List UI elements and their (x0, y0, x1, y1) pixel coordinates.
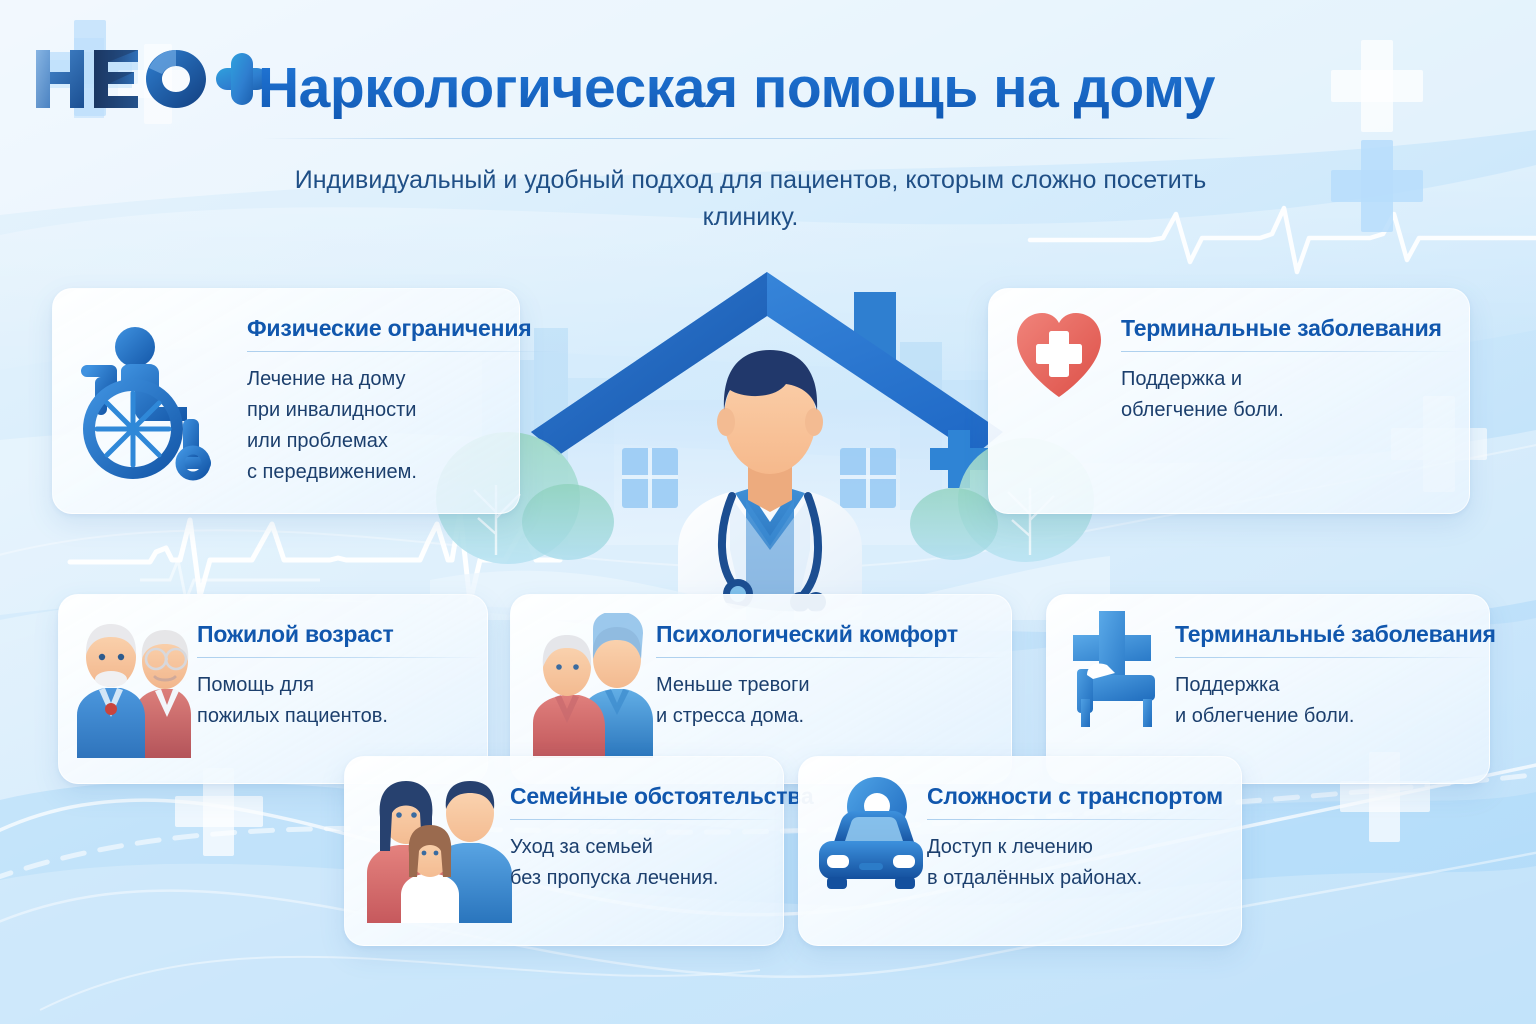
card-body: Сложности с транспортом Доступ к лечению… (927, 783, 1237, 894)
wheelchair-head (115, 327, 155, 367)
two-people-icon (533, 613, 653, 758)
card-divider (510, 819, 780, 820)
page-subtitle: Индивидуальный и удобный подход для паци… (268, 162, 1233, 236)
card-description: Поддержка и облегчение боли. (1175, 670, 1485, 732)
neo-plus-logo[interactable] (26, 38, 271, 118)
card-divider (656, 657, 1006, 658)
card-body: Семейные обстоятельства Уход за семьей б… (510, 783, 780, 894)
family-icon (367, 773, 512, 923)
card-title: Терминальные́ заболевания (1175, 621, 1485, 648)
card-title: Физические ограничения (247, 315, 567, 342)
car-location-icon (815, 773, 927, 913)
wheelchair-icon (75, 311, 225, 491)
card-title: Психологический комфорт (656, 621, 1006, 648)
windshield (845, 817, 903, 841)
card-divider (1121, 351, 1461, 352)
page-title: Наркологическая помощь на дому (258, 55, 1215, 121)
wheel-spokes (97, 393, 169, 465)
card-divider (197, 657, 482, 658)
card-title: Сложности с транспортом (927, 783, 1237, 810)
card-divider (927, 819, 1237, 820)
card-description: Лечение на дому при инвалидности или про… (247, 364, 567, 488)
card-body: Физические ограничения Лечение на дому п… (247, 315, 567, 488)
card-description: Поддержка и облегчение боли. (1121, 364, 1461, 426)
card-divider (1175, 657, 1485, 658)
card-title: Терминальные заболевания (1121, 315, 1461, 342)
card-body: Терминальные заболевания Поддержка и обл… (1121, 315, 1461, 426)
card-description: Меньше тревоги и стресса дома. (656, 670, 1006, 732)
headlight-left (827, 855, 849, 868)
hospital-bed-icon (1063, 611, 1173, 741)
card-body: Пожилой возраст Помощь для пожилых пацие… (197, 621, 482, 732)
card-divider (247, 351, 567, 352)
title-divider (262, 138, 1237, 139)
card-body: Терминальные́ заболевания Поддержка и об… (1175, 621, 1485, 732)
card-title: Семейные обстоятельства (510, 783, 780, 810)
infographic-canvas: Наркологическая помощь на дому Индивидуа… (0, 0, 1536, 1024)
headlight-right (893, 855, 915, 868)
heart-cross-icon (1011, 307, 1107, 403)
card-body: Психологический комфорт Меньше тревоги и… (656, 621, 1006, 732)
card-family-circumstances[interactable]: Семейные обстоятельства Уход за семьей б… (344, 756, 784, 946)
card-description: Помощь для пожилых пациентов. (197, 670, 482, 732)
card-transport-difficulties[interactable]: Сложности с транспортом Доступ к лечению… (798, 756, 1242, 946)
card-terminal-illness-top[interactable]: Терминальные заболевания Поддержка и обл… (988, 288, 1470, 514)
card-physical-limitations[interactable]: Физические ограничения Лечение на дому п… (52, 288, 520, 514)
card-description: Доступ к лечению в отдалённых районах. (927, 832, 1237, 894)
card-title: Пожилой возраст (197, 621, 482, 648)
card-description: Уход за семьей без пропуска лечения. (510, 832, 780, 894)
page-header: Наркологическая помощь на дому Индивидуа… (0, 0, 1536, 240)
elderly-couple-icon (77, 613, 193, 758)
